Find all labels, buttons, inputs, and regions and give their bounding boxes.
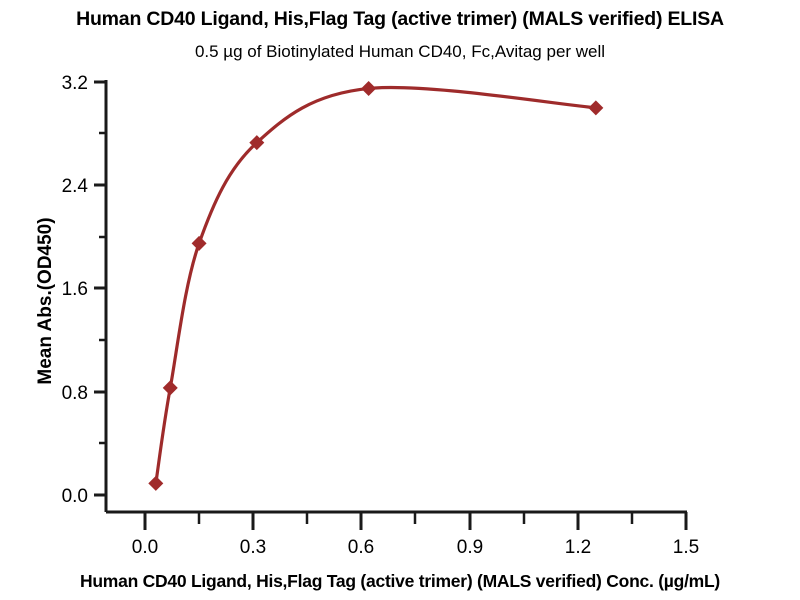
chart-figure: Human CD40 Ligand, His,Flag Tag (active … [0, 0, 800, 600]
x-tick-labels: 0.0 0.3 0.6 0.9 1.2 1.5 [132, 537, 699, 558]
x-tick-label: 0.0 [132, 537, 158, 558]
data-point-marker [588, 100, 603, 115]
x-axis-label: Human CD40 Ligand, His,Flag Tag (active … [0, 571, 800, 592]
y-tick-label: 3.2 [62, 73, 88, 94]
x-tick-label: 0.9 [457, 537, 483, 558]
x-tick-label: 1.2 [565, 537, 591, 558]
y-major-ticks [94, 82, 106, 495]
x-minor-ticks [199, 512, 632, 524]
y-tick-label: 0.0 [62, 486, 88, 507]
data-point-marker [148, 476, 163, 491]
series-markers [148, 81, 603, 491]
x-tick-label: 0.3 [240, 537, 266, 558]
x-tick-label: 0.6 [348, 537, 374, 558]
data-point-marker [163, 380, 178, 395]
y-tick-labels: 3.2 2.4 1.6 0.8 0.0 [62, 73, 89, 507]
x-tick-label: 1.5 [673, 537, 699, 558]
data-point-marker [361, 81, 376, 96]
y-tick-label: 2.4 [62, 176, 89, 197]
plot-area: 3.2 2.4 1.6 0.8 0.0 0.0 0.3 0.6 0.9 1.2 … [0, 0, 800, 600]
y-tick-label: 1.6 [62, 279, 88, 300]
y-tick-label: 0.8 [62, 383, 88, 404]
series-curve [156, 87, 596, 483]
data-point-marker [192, 236, 207, 251]
y-axis-label: Mean Abs.(OD450) [35, 151, 57, 451]
